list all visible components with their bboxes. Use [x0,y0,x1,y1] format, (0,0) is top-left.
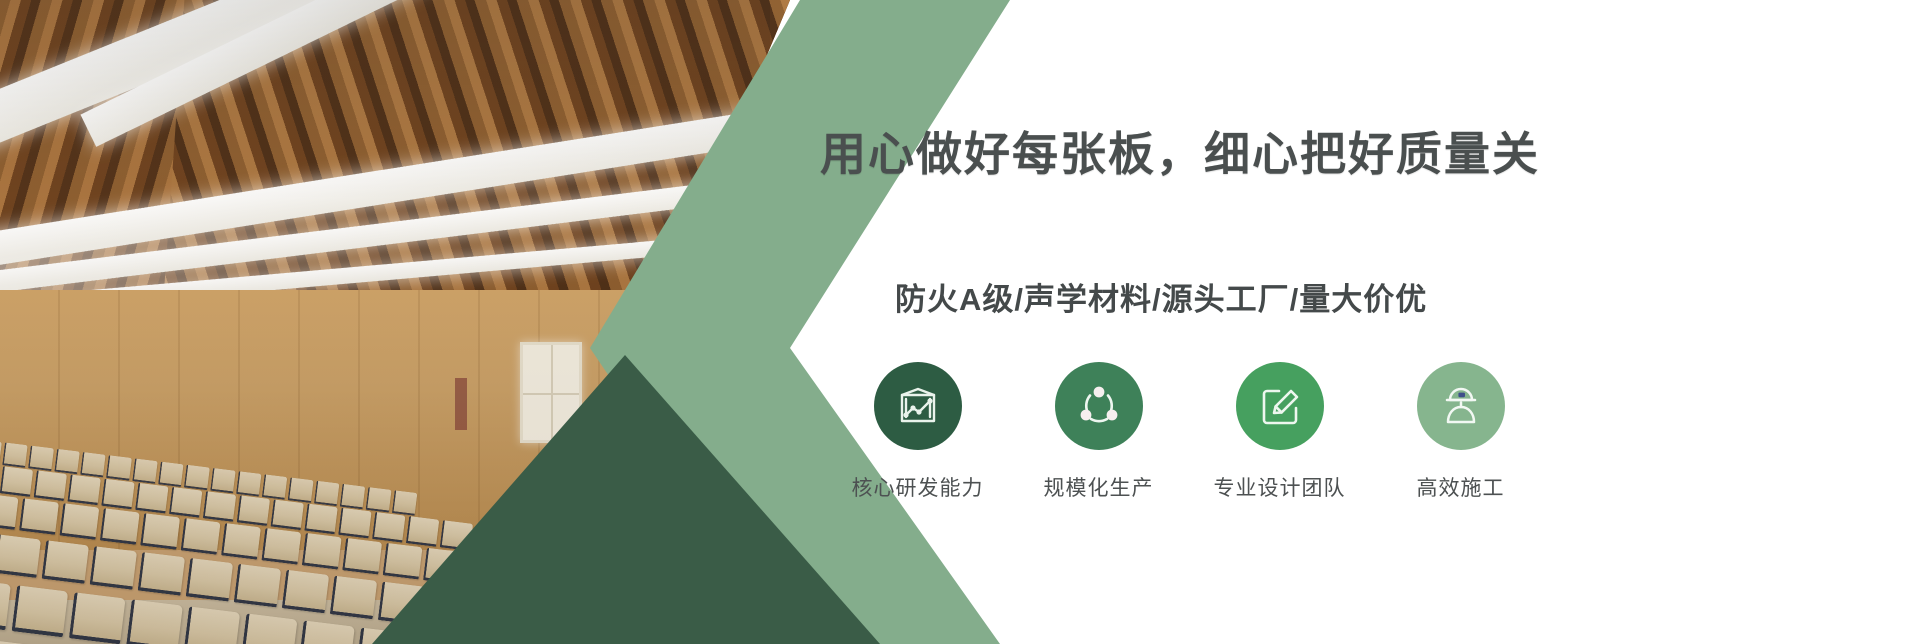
feature-list: 核心研发能力 规模化生产 [850,362,1528,502]
worker-hardhat-icon [1437,382,1485,430]
feature-label-production: 规模化生产 [1044,472,1154,502]
feature-item-construction[interactable]: 高效施工 [1393,362,1528,502]
feature-item-production[interactable]: 规模化生产 [1031,362,1166,502]
rnd-box-chart-icon [894,382,942,430]
banner-content: 用心做好每张板，细心把好质量关 防火A级/声学材料/源头工厂/量大价优 [840,0,1920,644]
page-title: 用心做好每张板，细心把好质量关 [820,118,1540,184]
feature-icon-circle-construction [1417,362,1505,450]
feature-icon-circle-production [1055,362,1143,450]
feature-icon-circle-rnd [874,362,962,450]
hero-banner: 用心做好每张板，细心把好质量关 防火A级/声学材料/源头工厂/量大价优 [0,0,1920,644]
network-share-nodes-icon [1075,382,1123,430]
feature-item-design[interactable]: 专业设计团队 [1212,362,1347,502]
feature-icon-circle-design [1236,362,1324,450]
feature-label-rnd: 核心研发能力 [852,472,984,502]
feature-item-rnd[interactable]: 核心研发能力 [850,362,985,502]
edit-pencil-square-icon [1256,382,1304,430]
feature-label-construction: 高效施工 [1417,472,1505,502]
banner-subtitle: 防火A级/声学材料/源头工厂/量大价优 [895,274,1427,319]
feature-label-design: 专业设计团队 [1214,472,1346,502]
